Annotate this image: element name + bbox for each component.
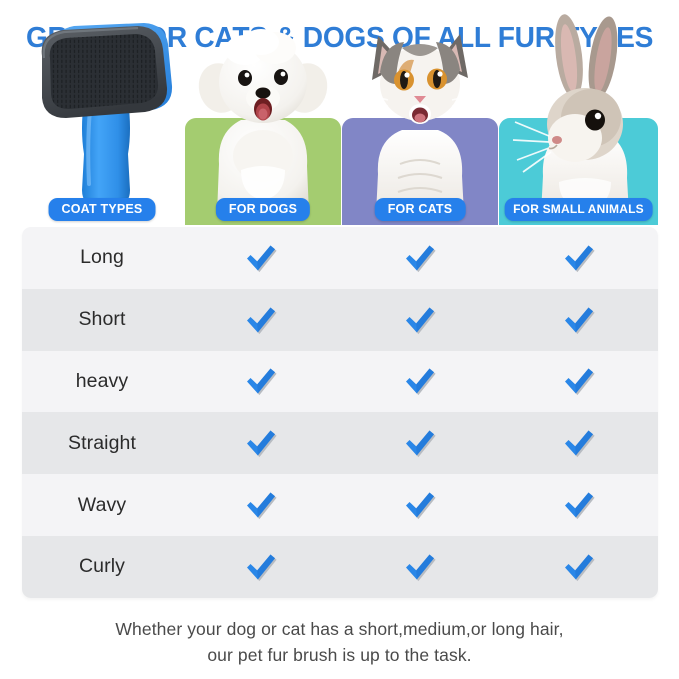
table-row: Straight: [22, 412, 658, 474]
checkmark-icon: [244, 366, 278, 396]
coat-type-label: Long: [22, 246, 182, 269]
coat-type-label: Straight: [22, 432, 182, 455]
checkmark-icon: [403, 428, 437, 458]
cell-dogs: [182, 428, 341, 458]
table-row: Curly: [22, 536, 658, 598]
column-coat-types: COAT TYPES: [22, 60, 182, 225]
checkmark-icon: [403, 552, 437, 582]
coat-type-label: Short: [22, 308, 182, 331]
cell-small: [499, 366, 658, 396]
footer-caption: Whether your dog or cat has a short,medi…: [0, 616, 679, 669]
checkmark-icon: [244, 552, 278, 582]
badge-coat-types[interactable]: COAT TYPES: [49, 198, 156, 222]
badge-for-cats[interactable]: FOR CATS: [375, 198, 466, 222]
cell-dogs: [182, 490, 341, 520]
caption-line-2: our pet fur brush is up to the task.: [0, 642, 679, 668]
cell-dogs: [182, 552, 341, 582]
cell-cats: [341, 428, 500, 458]
checkmark-icon: [244, 305, 278, 335]
coat-type-label: heavy: [22, 370, 182, 393]
badge-for-small-animals[interactable]: FOR SMALL ANIMALS: [504, 198, 653, 221]
cell-small: [499, 305, 658, 335]
table-row: Short: [22, 289, 658, 351]
checkmark-icon: [403, 305, 437, 335]
checkmark-icon: [562, 490, 596, 520]
table-row: Long: [22, 227, 658, 289]
cell-dogs: [182, 366, 341, 396]
cell-dogs: [182, 243, 341, 273]
checkmark-icon: [244, 243, 278, 273]
table-row: Wavy: [22, 474, 658, 536]
coat-type-label: Curly: [22, 555, 182, 578]
checkmark-icon: [562, 552, 596, 582]
coat-type-label: Wavy: [22, 494, 182, 517]
page-title: GREAT FOR CATS & DOGS OF ALL FUR TYPES: [10, 22, 669, 55]
checkmark-icon: [244, 490, 278, 520]
category-header-band: COAT TYPES: [0, 60, 679, 225]
cell-cats: [341, 366, 500, 396]
comparison-table: LongShortheavyStraightWavyCurly: [22, 227, 658, 598]
cell-cats: [341, 490, 500, 520]
cell-cats: [341, 305, 500, 335]
checkmark-icon: [562, 366, 596, 396]
cell-cats: [341, 552, 500, 582]
cell-dogs: [182, 305, 341, 335]
table-row: heavy: [22, 351, 658, 413]
column-small-animals: FOR SMALL ANIMALS: [499, 60, 658, 225]
checkmark-icon: [562, 305, 596, 335]
checkmark-icon: [562, 243, 596, 273]
column-dogs: FOR DOGS: [185, 60, 341, 225]
checkmark-icon: [403, 243, 437, 273]
caption-line-1: Whether your dog or cat has a short,medi…: [0, 616, 679, 642]
badge-for-dogs[interactable]: FOR DOGS: [216, 198, 310, 222]
cell-small: [499, 552, 658, 582]
checkmark-icon: [244, 428, 278, 458]
cell-small: [499, 243, 658, 273]
checkmark-icon: [403, 490, 437, 520]
checkmark-icon: [562, 428, 596, 458]
cell-small: [499, 490, 658, 520]
checkmark-icon: [403, 366, 437, 396]
cell-cats: [341, 243, 500, 273]
cell-small: [499, 428, 658, 458]
column-cats: FOR CATS: [342, 60, 498, 225]
